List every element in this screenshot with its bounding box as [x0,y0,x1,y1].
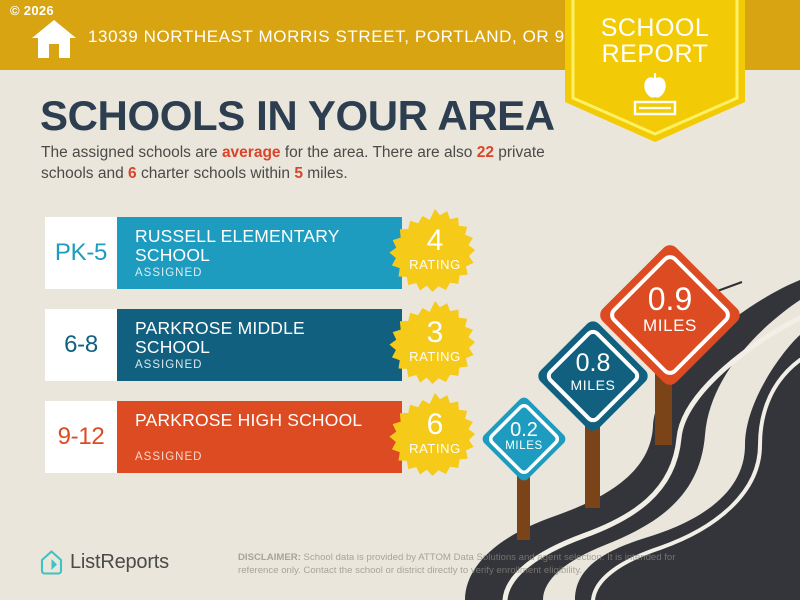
grade-range-label: PK-5 [55,239,107,267]
grade-range-box: 9-12 [45,401,117,473]
subtitle-highlight-charter-count: 6 [128,165,137,182]
infographic-canvas: 0.9 MILES 0.8 MILES 0.2 MILES © 2026 130… [0,0,800,600]
rating-badge: 6 RATING [389,391,481,483]
apple-on-book-icon [627,72,683,118]
disclaimer-label: DISCLAIMER: [238,552,301,563]
subtitle-part-2: for the area. There are also [281,144,477,161]
badge-line-2: REPORT [565,41,745,68]
rating-label: RATING [389,257,481,272]
rating-value: 3 [389,317,481,349]
rating-label: RATING [389,349,481,364]
distance-value-1: 0.2 [480,419,568,441]
page-title: SCHOOLS IN YOUR AREA [40,93,555,139]
school-status: ASSIGNED [135,451,202,463]
school-name: PARKROSE MIDDLE SCHOOL [135,319,385,357]
subtitle-highlight-radius: 5 [294,165,303,182]
disclaimer-text: DISCLAIMER: School data is provided by A… [238,551,698,577]
subtitle-highlight-private-count: 22 [477,144,494,161]
distance-unit-1: MILES [480,440,568,452]
grade-range-box: PK-5 [45,217,117,289]
subtitle-part-5: miles. [303,165,348,182]
school-status: ASSIGNED [135,359,202,371]
subtitle-highlight-average: average [222,144,281,161]
badge-line-1: SCHOOL [565,15,745,42]
rating-value: 4 [389,225,481,257]
rating-value: 6 [389,409,481,441]
listreports-logo[interactable]: ListReports [40,550,169,575]
distance-unit-2: MILES [535,377,651,393]
school-name: RUSSELL ELEMENTARY SCHOOL [135,227,385,265]
copyright-text: © 2026 [10,4,54,18]
distance-value-3: 0.9 [595,282,745,316]
grade-range-label: 9-12 [58,423,105,451]
rating-label: RATING [389,441,481,456]
listreports-wordmark: ListReports [70,551,169,574]
grade-range-box: 6-8 [45,309,117,381]
property-address: 13039 NORTHEAST MORRIS STREET, PORTLAND,… [88,27,605,47]
road-scene: 0.9 MILES 0.8 MILES 0.2 MILES [455,240,800,600]
house-icon [32,20,76,58]
distance-sign-1[interactable]: 0.2 MILES [480,395,568,483]
disclaimer-body: School data is provided by ATTOM Data So… [238,552,675,576]
listreports-house-icon [40,550,63,575]
subtitle-part-1: The assigned schools are [41,144,222,161]
school-info-bar: RUSSELL ELEMENTARY SCHOOL ASSIGNED [117,217,402,289]
page-subtitle: The assigned schools are average for the… [41,142,571,184]
school-status: ASSIGNED [135,267,202,279]
school-info-bar: PARKROSE HIGH SCHOOL ASSIGNED [117,401,402,473]
subtitle-part-4: charter schools within [137,165,295,182]
school-name: PARKROSE HIGH SCHOOL [135,411,385,430]
school-report-badge: SCHOOL REPORT [565,0,745,142]
rating-badge: 4 RATING [389,207,481,299]
school-info-bar: PARKROSE MIDDLE SCHOOL ASSIGNED [117,309,402,381]
rating-badge: 3 RATING [389,299,481,391]
distance-value-2: 0.8 [535,350,651,377]
grade-range-label: 6-8 [64,331,98,359]
